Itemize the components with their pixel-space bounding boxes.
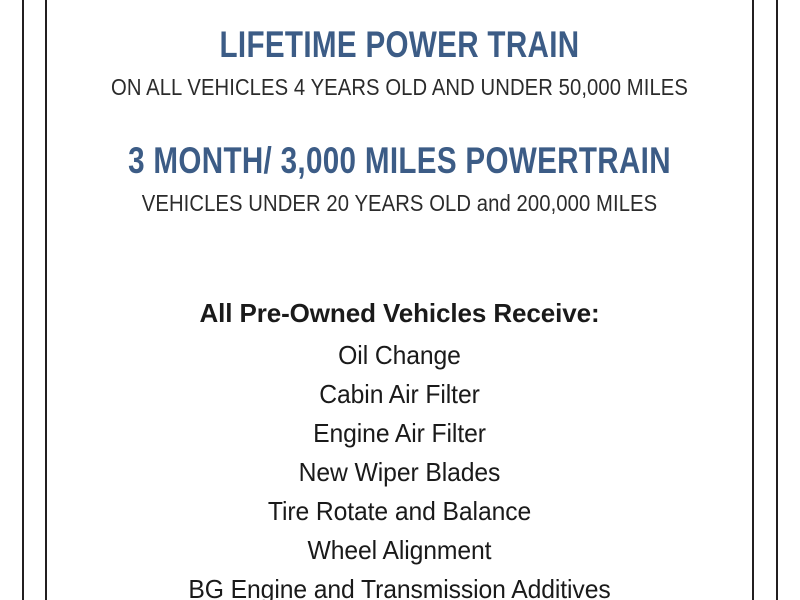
warranty-headline-lifetime: LIFETIME POWER TRAIN	[118, 26, 682, 63]
frame-rule-right-outer	[776, 0, 778, 600]
frame-rule-left-outer	[22, 0, 24, 600]
service-item: Tire Rotate and Balance	[65, 498, 735, 524]
service-item: Engine Air Filter	[65, 420, 735, 446]
services-title: All Pre-Owned Vehicles Receive:	[47, 300, 752, 326]
service-item: Wheel Alignment	[65, 537, 735, 563]
services-section: All Pre-Owned Vehicles Receive: Oil Chan…	[47, 300, 752, 600]
warranty-subline-lifetime: ON ALL VEHICLES 4 YEARS OLD AND UNDER 50…	[89, 75, 709, 99]
service-item: Cabin Air Filter	[65, 381, 735, 407]
warranty-block-lifetime: LIFETIME POWER TRAIN ON ALL VEHICLES 4 Y…	[47, 26, 752, 99]
frame-rule-right-inner	[752, 0, 754, 600]
warranty-subline-3month: VEHICLES UNDER 20 YEARS OLD and 200,000 …	[89, 191, 709, 215]
service-item: New Wiper Blades	[65, 459, 735, 485]
service-item: BG Engine and Transmission Additives	[65, 576, 735, 600]
service-item: Oil Change	[65, 342, 735, 368]
flyer-page: LIFETIME POWER TRAIN ON ALL VEHICLES 4 Y…	[0, 0, 800, 600]
warranty-block-3month: 3 MONTH/ 3,000 MILES POWERTRAIN VEHICLES…	[47, 142, 752, 215]
warranty-headline-3month: 3 MONTH/ 3,000 MILES POWERTRAIN	[118, 142, 682, 179]
content-column: LIFETIME POWER TRAIN ON ALL VEHICLES 4 Y…	[47, 0, 752, 600]
